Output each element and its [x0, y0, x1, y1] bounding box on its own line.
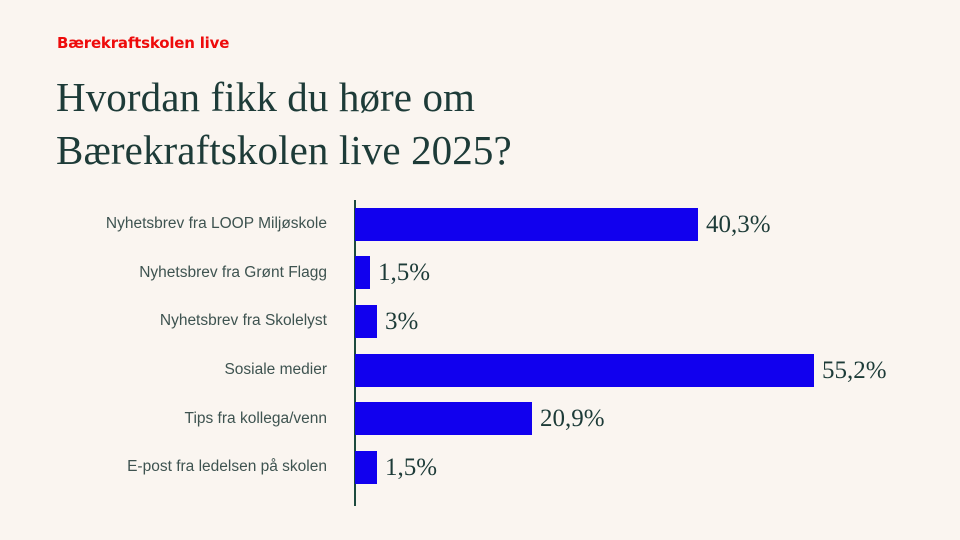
- bar-category-label: Sosiale medier: [224, 346, 327, 395]
- bar-segment: [355, 402, 532, 435]
- bar-segment: [355, 305, 377, 338]
- bar-category-label: Nyhetsbrev fra Grønt Flagg: [139, 249, 327, 298]
- bar-segment: [355, 354, 814, 387]
- bar-row: Sosiale medier55,2%: [0, 346, 960, 395]
- bar-row: E-post fra ledelsen på skolen1,5%: [0, 443, 960, 492]
- bar-and-value: 1,5%: [355, 443, 437, 492]
- bar-row: Nyhetsbrev fra Skolelyst3%: [0, 297, 960, 346]
- bar-category-label: E-post fra ledelsen på skolen: [127, 443, 327, 492]
- bar-segment: [355, 256, 370, 289]
- kicker-label: Bærekraftskolen live: [57, 34, 229, 52]
- bar-value-label: 1,5%: [385, 455, 437, 480]
- bar-value-label: 3%: [385, 309, 418, 334]
- bar-row: Nyhetsbrev fra LOOP Miljøskole40,3%: [0, 200, 960, 249]
- bar-value-label: 20,9%: [540, 406, 605, 431]
- bar-and-value: 20,9%: [355, 394, 605, 443]
- page-title-line-2: Bærekraftskolen live 2025?: [56, 124, 816, 177]
- bar-and-value: 1,5%: [355, 249, 430, 298]
- bar-value-label: 40,3%: [706, 212, 771, 237]
- bar-row: Tips fra kollega/venn20,9%: [0, 394, 960, 443]
- bar-row: Nyhetsbrev fra Grønt Flagg1,5%: [0, 249, 960, 298]
- bar-and-value: 3%: [355, 297, 418, 346]
- bar-category-label: Nyhetsbrev fra LOOP Miljøskole: [106, 200, 327, 249]
- bar-and-value: 40,3%: [355, 200, 771, 249]
- bar-category-label: Nyhetsbrev fra Skolelyst: [160, 297, 327, 346]
- bar-value-label: 1,5%: [378, 260, 430, 285]
- bar-chart: Nyhetsbrev fra LOOP Miljøskole40,3%Nyhet…: [0, 200, 960, 506]
- bar-segment: [355, 208, 698, 241]
- page-title-line-1: Hvordan fikk du høre om: [56, 71, 816, 124]
- bar-and-value: 55,2%: [355, 346, 887, 395]
- bar-rows: Nyhetsbrev fra LOOP Miljøskole40,3%Nyhet…: [0, 200, 960, 492]
- page-title: Hvordan fikk du høre om Bærekraftskolen …: [56, 71, 816, 178]
- bar-segment: [355, 451, 377, 484]
- bar-category-label: Tips fra kollega/venn: [185, 394, 327, 443]
- bar-value-label: 55,2%: [822, 358, 887, 383]
